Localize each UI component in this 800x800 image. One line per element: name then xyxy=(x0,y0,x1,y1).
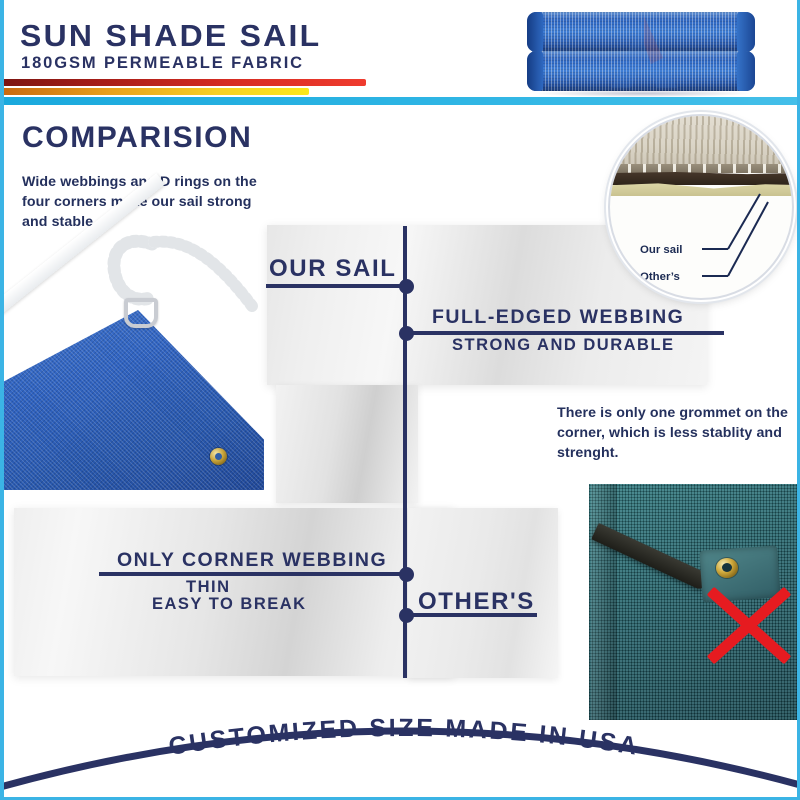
mesh-fold-edge xyxy=(591,484,617,720)
others-feature-subtitle-2: EASY TO BREAK xyxy=(152,595,307,614)
red-x-icon xyxy=(697,574,797,674)
others-description: There is only one grommet on the corner,… xyxy=(557,403,800,463)
brass-grommet xyxy=(210,448,227,465)
accent-stripe-blue xyxy=(4,97,800,105)
page-title: COMPARISION xyxy=(22,121,252,155)
accent-stripe-yellow xyxy=(4,88,309,95)
our-sail-feature-title: FULL-EDGED WEBBING xyxy=(432,306,684,329)
webbing-macro-inset: Our sail Other’s xyxy=(608,114,794,300)
others-feature-title: ONLY CORNER WEBBING xyxy=(117,549,387,572)
infographic-canvas: SUN SHADE SAIL 180GSM PERMEABLE FABRIC C… xyxy=(0,0,800,800)
others-feature-underline xyxy=(99,572,408,576)
header-title: SUN SHADE SAIL xyxy=(20,18,321,54)
our-sail-feature-subtitle: STRONG AND DURABLE xyxy=(452,336,675,355)
footer-arc: CUSTOMIZED SIZE MADE IN USA xyxy=(0,690,800,800)
brand-watermark-logo xyxy=(607,14,681,92)
d-ring-icon xyxy=(124,298,158,328)
accent-stripe-red xyxy=(4,79,366,86)
sail-corner-photo xyxy=(4,230,279,500)
our-sail-panel-tab xyxy=(276,385,418,503)
our-sail-feature-underline xyxy=(404,331,724,335)
header-subtitle: 180GSM PERMEABLE FABRIC xyxy=(21,54,304,73)
footer-banner: CUSTOMIZED SIZE MADE IN USA xyxy=(0,690,800,800)
inset-callout-others: Other’s xyxy=(640,271,680,283)
inset-leader-lines xyxy=(610,116,792,298)
our-sail-label: OUR SAIL xyxy=(269,255,396,283)
our-sail-underline xyxy=(266,284,408,288)
connector-dot-others-feature xyxy=(399,567,414,582)
others-label: OTHER'S xyxy=(418,588,535,616)
connector-dot-others xyxy=(399,608,414,623)
connector-dot-our-feature xyxy=(399,326,414,341)
product-photo-fabric-rolls xyxy=(519,4,769,96)
inset-callout-our-sail: Our sail xyxy=(640,244,682,256)
other-corner-photo xyxy=(589,484,800,720)
connector-dot-our-sail xyxy=(399,279,414,294)
others-panel xyxy=(14,508,454,676)
footer-banner-text: CUSTOMIZED SIZE MADE IN USA xyxy=(167,714,642,761)
